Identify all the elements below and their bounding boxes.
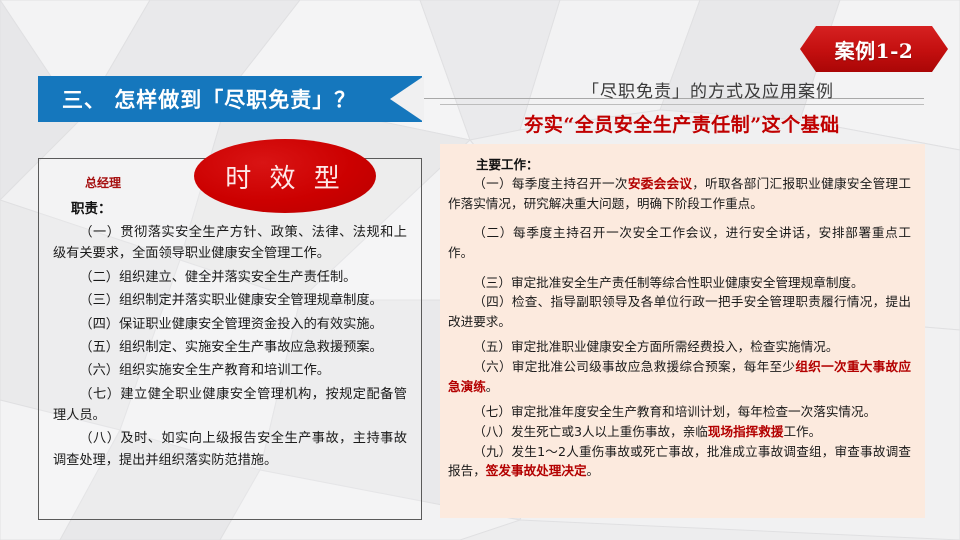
highlighted-term: 安委会会议 [628, 176, 692, 191]
slide-subtitle: 「尽职免责」的方式及应用案例 [498, 76, 918, 102]
left-item: （六）组织实施安全生产教育和培训工作。 [53, 360, 407, 381]
main-work-item: （四）检查、指导副职领导及各单位行政一把手安全管理职责履行情况，提出改进要求。 [448, 292, 911, 331]
item-text-tail: 。 [587, 463, 600, 478]
left-item: （二）组织建立、健全并落实安全生产责任制。 [53, 267, 407, 288]
section-title-bar[interactable]: 三、 怎样做到「尽职免责」？ [38, 76, 422, 122]
item-text-tail: 工作。 [783, 424, 821, 439]
left-item: （一）贯彻落实安全生产方针、政策、法律、法规和上级有关要求，全面领导职业健康安全… [53, 222, 407, 265]
main-work-item: （一）每季度主持召开一次安委会会议，听取各部门汇报职业健康安全管理工作落实情况，… [448, 174, 911, 213]
highlighted-term: 现场指挥救援 [708, 424, 784, 439]
main-work-item: （二）每季度主持召开一次安全工作会议，进行安全讲话，安排部署重点工作。 [448, 223, 911, 262]
slide-headline: 夯实“全员安全生产责任制”这个基础 [440, 108, 924, 138]
left-item: （三）组织制定并落实职业健康安全管理规章制度。 [53, 290, 407, 311]
item-text: （四）检查、指导副职领导及各单位行政一把手安全管理职责履行情况，提出改进要求。 [448, 294, 911, 329]
item-text: （一）每季度主持召开一次 [473, 176, 628, 191]
slide-canvas: 三、 怎样做到「尽职免责」？ 案例1-2 「尽职免责」的方式及应用案例 夯实“全… [0, 0, 960, 540]
item-text: （八）发生死亡或3人以上重伤事故，亲临 [473, 424, 708, 439]
main-work-item: （九）发生1～2人重伤事故或死亡事故，批准成立事故调查组，审查事故调查报告，签发… [448, 442, 911, 481]
item-text: （七）审定批准年度安全生产教育和培训计划，每年检查一次落实情况。 [473, 404, 876, 419]
main-work-item: （六）审定批准公司级事故应急救援综合预案，每年至少组织一次重大事故应急演练。 [448, 357, 911, 396]
main-work-heading: 主要工作： [476, 154, 911, 173]
left-duties-panel: 总经理 职责： （一）贯彻落实安全生产方针、政策、法律、法规和上级有关要求，全面… [38, 158, 422, 520]
section-title-label: 三、 怎样做到「尽职免责」？ [62, 84, 356, 114]
stamp-label: 时 效 型 [225, 158, 345, 195]
main-work-item: （八）发生死亡或3人以上重伤事故，亲临现场指挥救援工作。 [448, 422, 911, 442]
item-text: （三）审定批准安全生产责任制等综合性职业健康安全管理规章制度。 [473, 275, 863, 290]
right-main-work-panel: 主要工作： （一）每季度主持召开一次安委会会议，听取各部门汇报职业健康安全管理工… [440, 144, 925, 518]
main-work-list: （一）每季度主持召开一次安委会会议，听取各部门汇报职业健康安全管理工作落实情况，… [448, 174, 911, 481]
left-item: （七）建立健全职业健康安全管理机构，按规定配备管理人员。 [53, 384, 407, 427]
item-text: （二）每季度主持召开一次安全工作会议，进行安全讲话，安排部署重点工作。 [448, 225, 911, 260]
highlighted-term: 签发事故处理决定 [486, 463, 587, 478]
main-work-item: （五）审定批准职业健康安全方面所需经费投入，检查实施情况。 [448, 337, 911, 357]
main-work-item: （三）审定批准安全生产责任制等综合性职业健康安全管理规章制度。 [448, 273, 911, 293]
left-item: （四）保证职业健康安全管理资金投入的有效实施。 [53, 314, 407, 335]
case-badge-label: 案例1-2 [800, 26, 948, 72]
header-divider [440, 104, 924, 105]
item-text: （六）审定批准公司级事故应急救援综合预案，每年至少 [473, 359, 795, 374]
item-text: （五）审定批准职业健康安全方面所需经费投入，检查实施情况。 [473, 339, 838, 354]
left-item: （八）及时、如实向上级报告安全生产事故，主持事故调查处理，提出并组织落实防范措施… [53, 428, 407, 471]
item-text-tail: 。 [486, 379, 499, 394]
time-effect-stamp: 时 效 型 [194, 139, 376, 213]
left-item: （五）组织制定、实施安全生产事故应急救援预案。 [53, 337, 407, 358]
main-work-item: （七）审定批准年度安全生产教育和培训计划，每年检查一次落实情况。 [448, 402, 911, 422]
arrow-left-triangle-icon [390, 76, 424, 122]
